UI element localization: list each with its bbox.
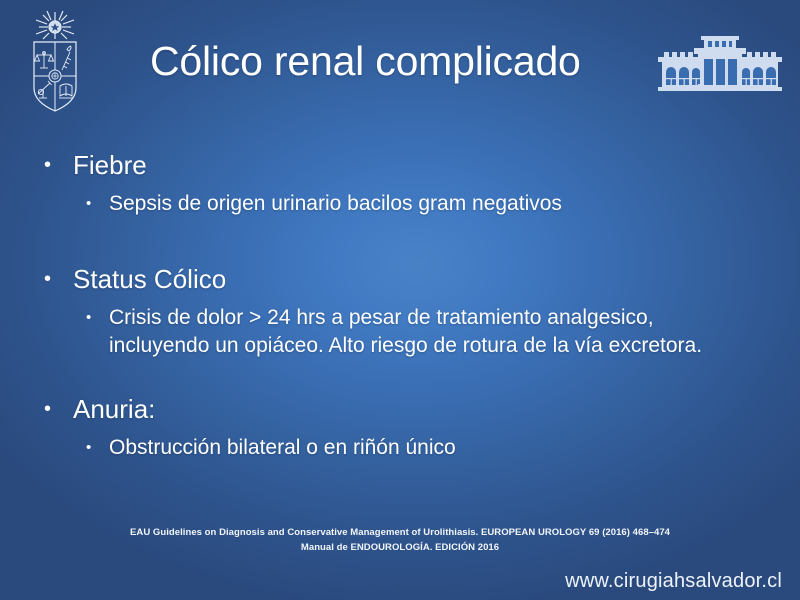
bullet-level1-text: Status Cólico — [73, 262, 226, 296]
bullet-level1: • Fiebre — [40, 148, 780, 182]
bullet-level2: • Obstrucción bilateral o en riñón único — [82, 434, 780, 462]
bullet-level2-text: Sepsis de origen urinario bacilos gram n… — [109, 190, 562, 218]
citation-line-2: Manual de ENDOUROLOGÍA. EDICIÓN 2016 — [0, 540, 800, 555]
bullet-dot-icon: • — [40, 148, 62, 182]
bullet-dot-icon: • — [82, 304, 100, 332]
bullet-group: • Status Cólico • Crisis de dolor > 24 h… — [40, 262, 780, 360]
bullet-level2: • Crisis de dolor > 24 hrs a pesar de tr… — [82, 304, 780, 360]
citation-block: EAU Guidelines on Diagnosis and Conserva… — [0, 525, 800, 555]
bullet-level1-text: Anuria: — [73, 392, 155, 426]
slide-header: Cólico renal complicado — [0, 0, 800, 125]
citation-line-1: EAU Guidelines on Diagnosis and Conserva… — [0, 525, 800, 540]
bullet-level2: • Sepsis de origen urinario bacilos gram… — [82, 190, 780, 218]
bullet-level1: • Anuria: — [40, 392, 780, 426]
presentation-slide: Cólico renal complicado — [0, 0, 800, 600]
page-title: Cólico renal complicado — [150, 38, 640, 85]
casa-central-building-icon — [652, 33, 788, 95]
bullet-group: • Anuria: • Obstrucción bilateral o en r… — [40, 392, 780, 462]
slide-content: • Fiebre • Sepsis de origen urinario bac… — [0, 140, 800, 490]
bullet-level2-text: Crisis de dolor > 24 hrs a pesar de trat… — [109, 304, 719, 360]
bullet-level1-text: Fiebre — [73, 148, 147, 182]
bullet-level2-text: Obstrucción bilateral o en riñón único — [109, 434, 456, 462]
bullet-dot-icon: • — [40, 392, 62, 426]
bullet-level1: • Status Cólico — [40, 262, 780, 296]
bullet-dot-icon: • — [82, 434, 100, 462]
website-url: www.cirugiahsalvador.cl — [565, 570, 782, 593]
bullet-dot-icon: • — [82, 190, 100, 218]
bullet-group: • Fiebre • Sepsis de origen urinario bac… — [40, 148, 780, 218]
university-crest-icon — [22, 8, 88, 116]
bullet-dot-icon: • — [40, 262, 62, 296]
